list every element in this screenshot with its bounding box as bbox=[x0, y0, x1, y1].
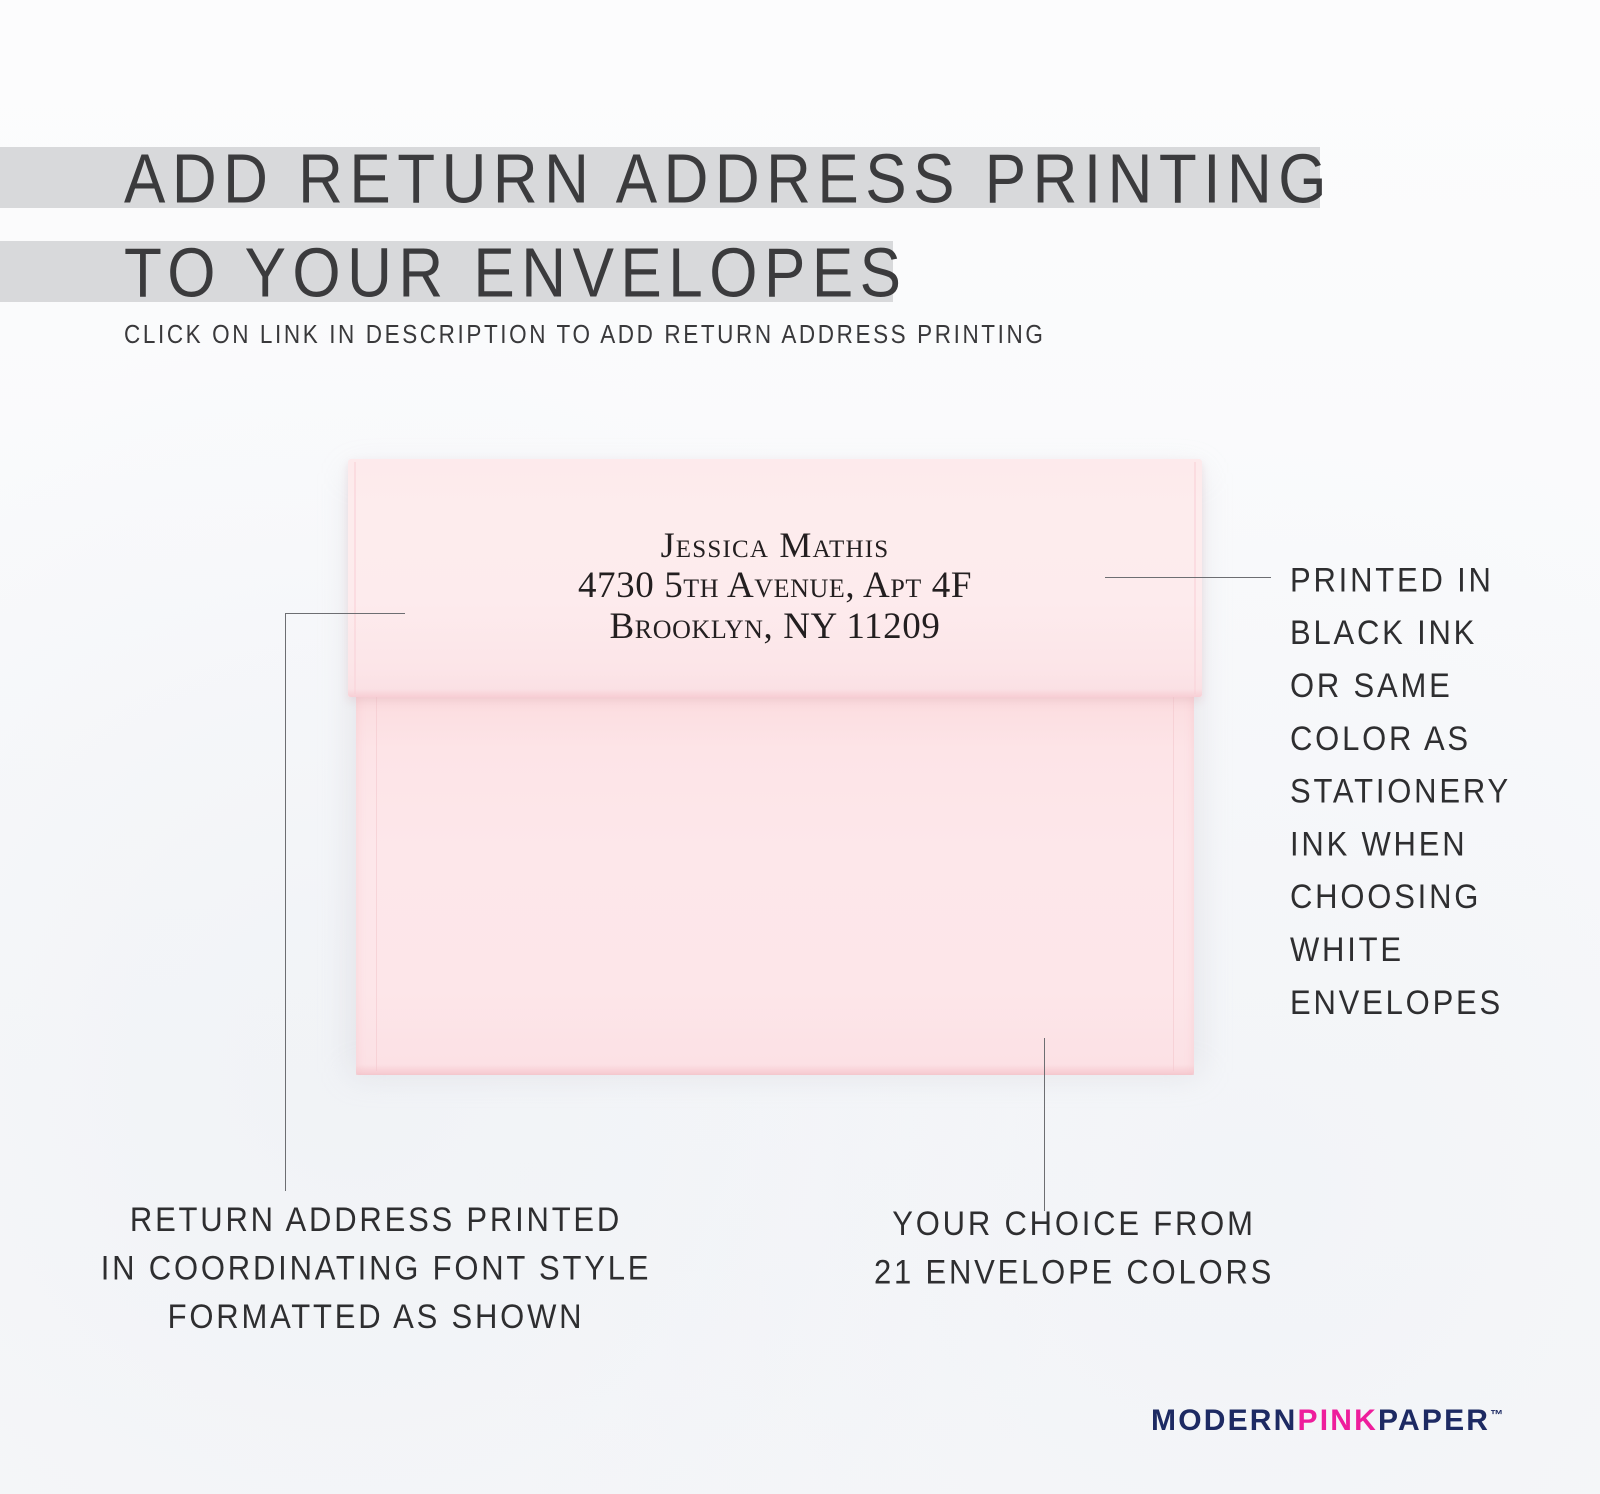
trademark-symbol: ™ bbox=[1490, 1407, 1503, 1422]
annotation-right-line: COLOR AS bbox=[1290, 712, 1590, 765]
annotation-right-line: CHOOSING bbox=[1290, 871, 1590, 924]
envelope-bottom-edge bbox=[356, 1065, 1194, 1075]
annotation-right-line: STATIONERY bbox=[1290, 765, 1590, 818]
annotation-bottom-center-line: 21 ENVELOPE COLORS bbox=[874, 1248, 1274, 1296]
connector-line-center-vertical bbox=[1044, 1038, 1045, 1211]
logo-paper: PAPER bbox=[1378, 1404, 1490, 1437]
connector-line-left-horizontal bbox=[285, 613, 405, 614]
headline-row-1: ADD RETURN ADDRESS PRINTING bbox=[0, 140, 1600, 234]
page-title-line-1: ADD RETURN ADDRESS PRINTING bbox=[124, 140, 1333, 221]
envelope-flap: Jessica Mathis 4730 5th Avenue, Apt 4F B… bbox=[348, 459, 1202, 697]
return-address-block: Jessica Mathis 4730 5th Avenue, Apt 4F B… bbox=[348, 527, 1202, 645]
envelope-seam-right bbox=[1173, 693, 1174, 1071]
headline-row-2: TO YOUR ENVELOPES bbox=[0, 234, 1600, 328]
brand-logo[interactable]: MODERNPINKPAPER™ bbox=[1151, 1404, 1503, 1438]
envelope-seam-left bbox=[376, 693, 377, 1071]
page-subtitle: CLICK ON LINK IN DESCRIPTION TO ADD RETU… bbox=[124, 320, 1045, 350]
return-address-street: 4730 5th Avenue, Apt 4F bbox=[348, 567, 1202, 608]
annotation-right-line: WHITE bbox=[1290, 924, 1590, 977]
annotation-right-line: BLACK INK bbox=[1290, 607, 1590, 660]
annotation-bottom-left-line: FORMATTED AS SHOWN bbox=[96, 1293, 656, 1341]
annotation-right-line: OR SAME bbox=[1290, 660, 1590, 713]
annotation-bottom-left-line: RETURN ADDRESS PRINTED bbox=[96, 1196, 656, 1244]
annotation-printed-in-black-ink: PRINTED IN BLACK INK OR SAME COLOR AS ST… bbox=[1290, 554, 1590, 1029]
annotation-return-address-font-style: RETURN ADDRESS PRINTED IN COORDINATING F… bbox=[96, 1196, 656, 1341]
page-header: ADD RETURN ADDRESS PRINTING TO YOUR ENVE… bbox=[0, 140, 1600, 328]
annotation-bottom-left-line: IN COORDINATING FONT STYLE bbox=[96, 1244, 656, 1292]
logo-pink: PINK bbox=[1298, 1404, 1378, 1437]
envelope-mockup: Jessica Mathis 4730 5th Avenue, Apt 4F B… bbox=[348, 459, 1202, 1075]
envelope-body bbox=[356, 687, 1194, 1075]
connector-line-right-horizontal bbox=[1105, 577, 1271, 578]
envelope-flap-lip bbox=[348, 689, 1202, 697]
annotation-right-line: INK WHEN bbox=[1290, 818, 1590, 871]
logo-modern: MODERN bbox=[1151, 1404, 1298, 1437]
return-address-city-state-zip: Brooklyn, NY 11209 bbox=[348, 608, 1202, 645]
page-title-line-2: TO YOUR ENVELOPES bbox=[124, 234, 908, 315]
annotation-envelope-colors: YOUR CHOICE FROM 21 ENVELOPE COLORS bbox=[874, 1200, 1274, 1297]
connector-line-left-vertical bbox=[285, 613, 286, 1191]
annotation-right-line: ENVELOPES bbox=[1290, 976, 1590, 1029]
annotation-bottom-center-line: YOUR CHOICE FROM bbox=[874, 1200, 1274, 1248]
return-address-name: Jessica Mathis bbox=[348, 527, 1202, 567]
annotation-right-line: PRINTED IN bbox=[1290, 554, 1590, 607]
